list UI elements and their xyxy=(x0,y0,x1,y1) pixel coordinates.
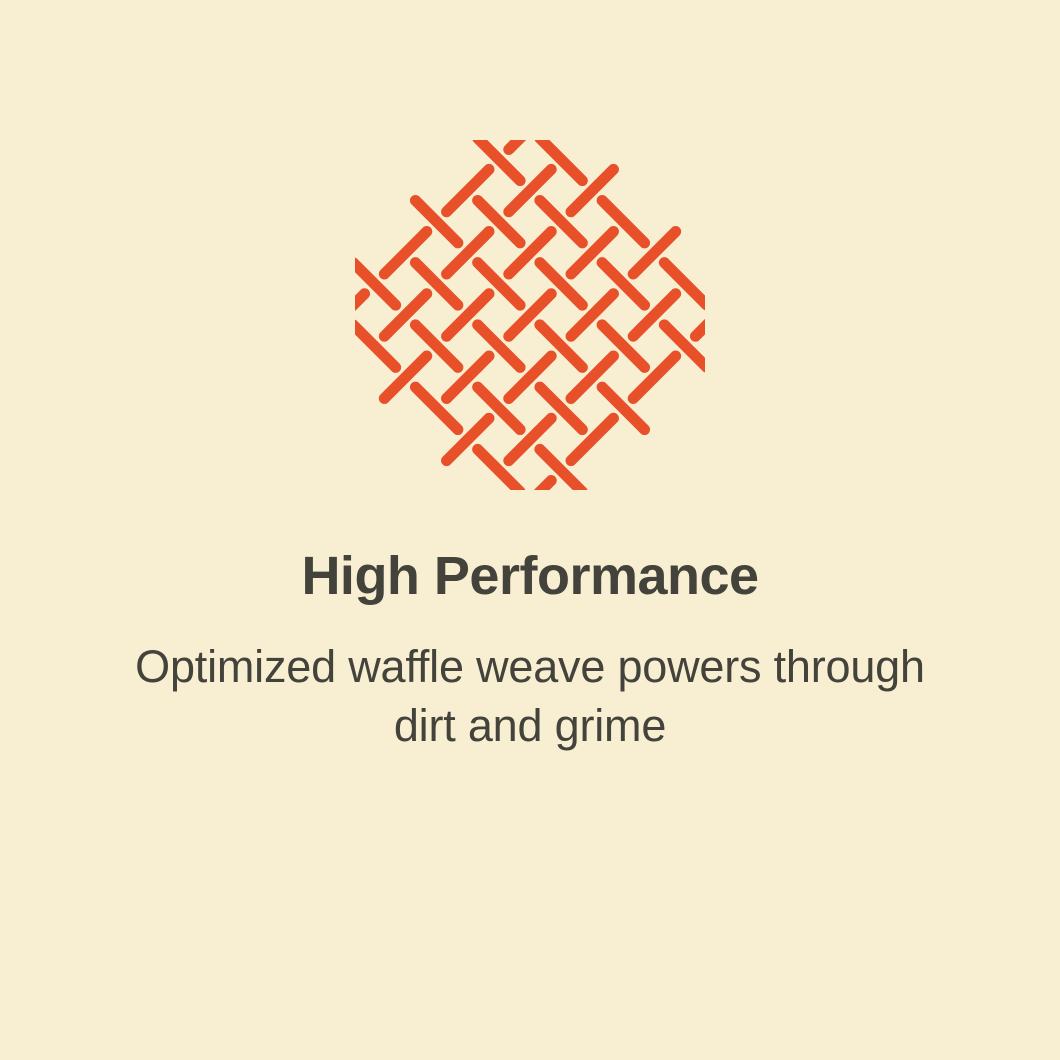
waffle-weave-icon-container xyxy=(0,140,1060,490)
page-title: High Performance xyxy=(301,548,758,605)
waffle-weave-icon xyxy=(355,140,705,490)
feature-text-block: High Performance Optimized waffle weave … xyxy=(0,548,1060,755)
feature-card: High Performance Optimized waffle weave … xyxy=(0,0,1060,1060)
feature-description: Optimized waffle weave powers through di… xyxy=(115,637,945,756)
